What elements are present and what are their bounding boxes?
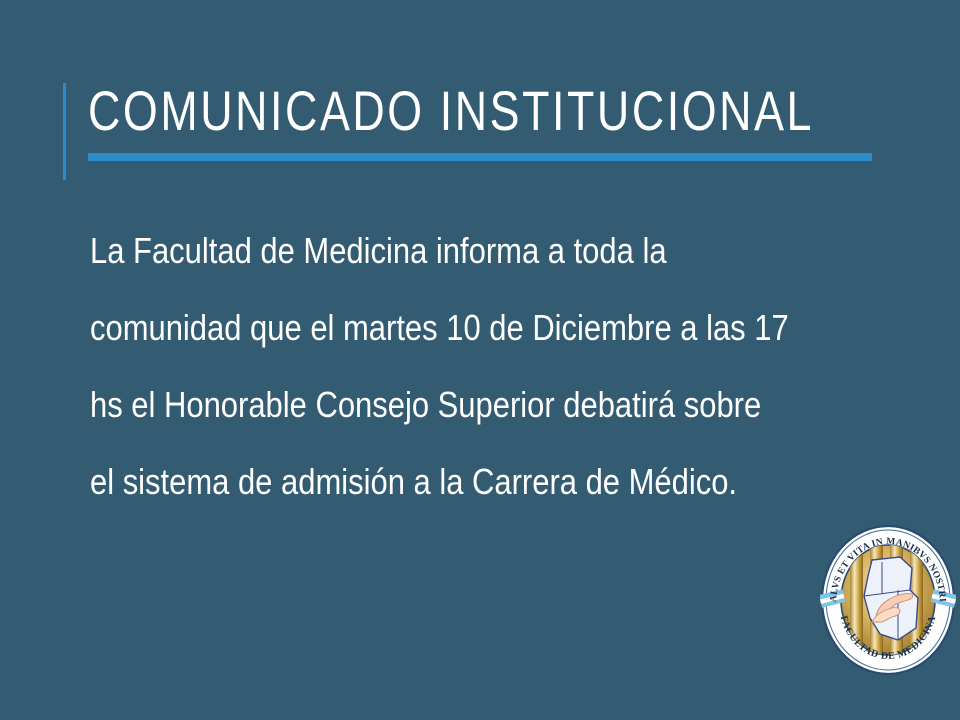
body-line: hs el Honorable Consejo Superior debatir… bbox=[90, 366, 795, 443]
body-line: comunidad que el martes 10 de Diciembre … bbox=[90, 289, 795, 366]
body-line: el sistema de admisión a la Carrera de M… bbox=[90, 443, 795, 520]
institution-logo: SALVS ET VITA IN MANIBVS NOSTRIS FACULTA… bbox=[820, 524, 956, 676]
body-text-block: La Facultad de Medicina informa a toda l… bbox=[90, 212, 910, 520]
title-block: COMUNICADO INSTITUCIONAL bbox=[0, 0, 960, 190]
page-title: COMUNICADO INSTITUCIONAL bbox=[88, 80, 814, 142]
body-line: La Facultad de Medicina informa a toda l… bbox=[90, 212, 795, 289]
presentation-slide: COMUNICADO INSTITUCIONAL La Facultad de … bbox=[0, 0, 960, 720]
title-horizontal-rule bbox=[88, 153, 872, 161]
title-vertical-accent-bar bbox=[63, 83, 66, 180]
